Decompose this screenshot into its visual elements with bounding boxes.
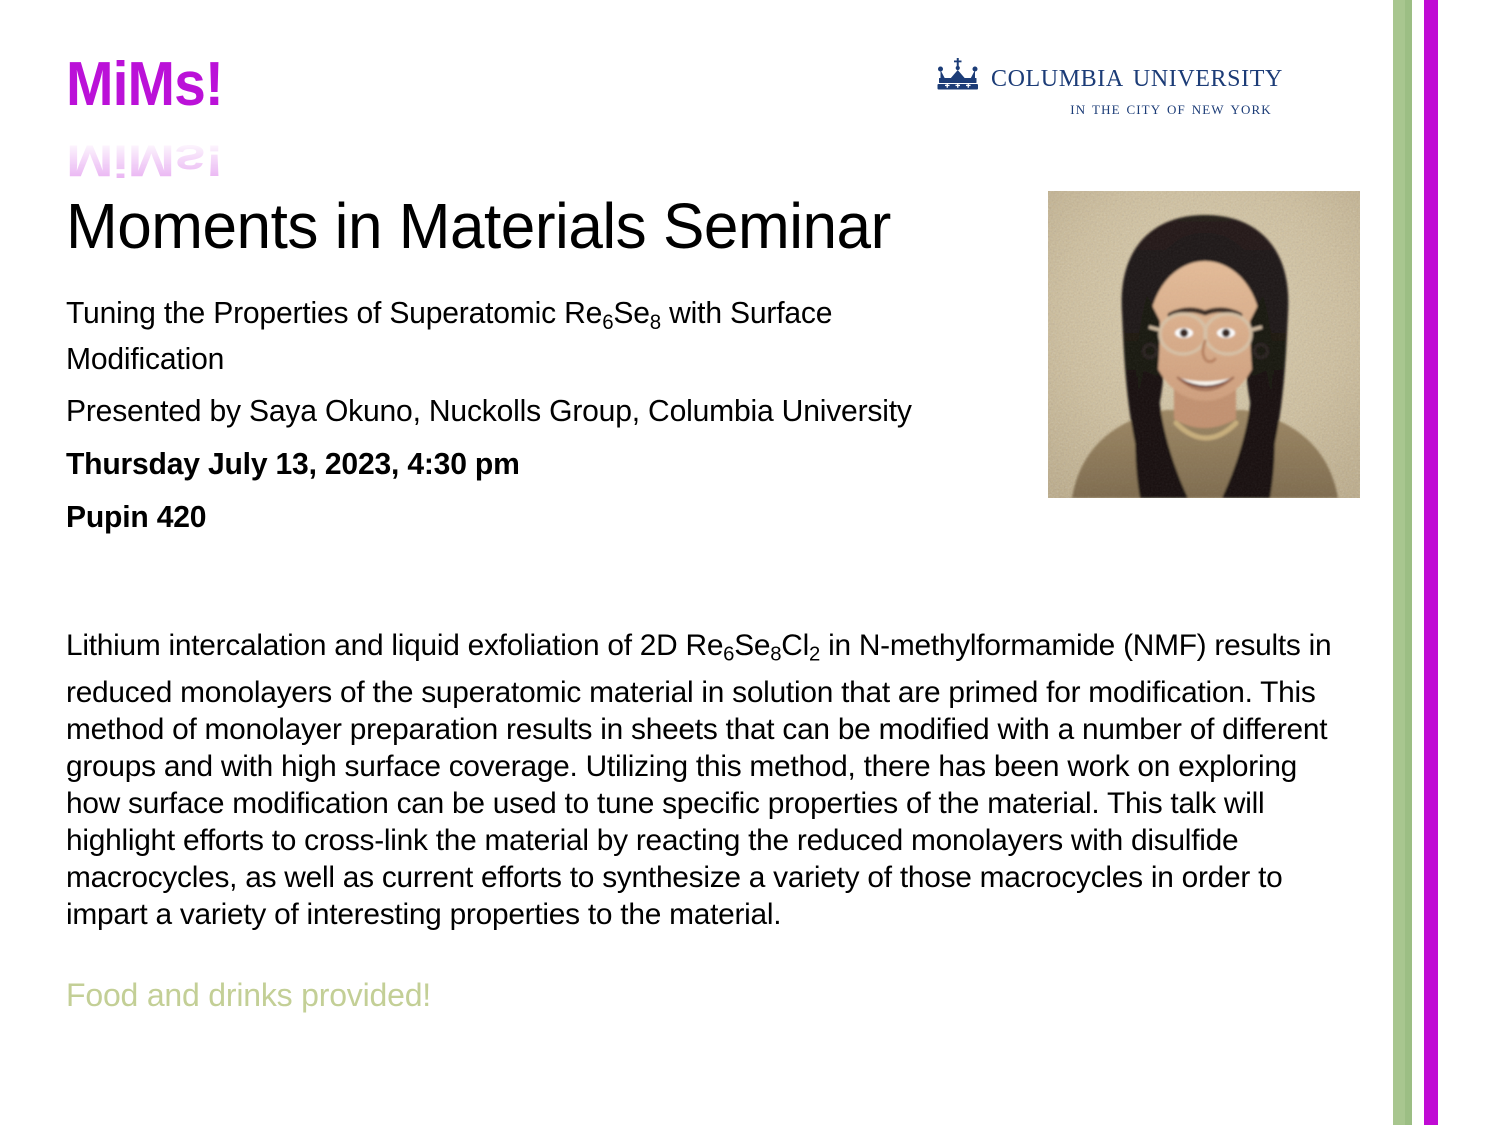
abstract-part-3: Cl <box>781 629 809 662</box>
abstract-subscript-1: 6 <box>723 644 734 666</box>
columbia-university-logo: Columbia University In the City of New Y… <box>935 58 1365 120</box>
talk-title-part-2: Se <box>613 295 649 330</box>
abstract-part-4: in N-methylformamide (NMF) results in re… <box>66 629 1331 931</box>
seminar-poster: MiMs! MiMs! <box>0 0 1500 1125</box>
columbia-university-name: Columbia University <box>991 58 1283 94</box>
abstract-text: Lithium intercalation and liquid exfolia… <box>66 627 1343 933</box>
food-note: Food and drinks provided! <box>66 976 1351 1014</box>
talk-title-part-1: Tuning the Properties of Superatomic Re <box>66 295 602 330</box>
abstract-subscript-2: 8 <box>770 644 781 666</box>
crown-icon <box>935 58 981 92</box>
mims-logo: MiMs! MiMs! <box>66 54 366 164</box>
talk-title: Tuning the Properties of Superatomic Re6… <box>66 295 944 377</box>
mims-logo-reflection: MiMs! <box>66 137 342 182</box>
abstract-part-1: Lithium intercalation and liquid exfolia… <box>66 629 723 662</box>
mims-logo-text: MiMs! <box>66 54 342 116</box>
talk-title-subscript-1: 6 <box>602 311 613 334</box>
talk-title-subscript-2: 8 <box>650 311 661 334</box>
abstract-part-2: Se <box>734 629 770 662</box>
page-title: Moments in Materials Seminar <box>66 190 1312 262</box>
seminar-datetime: Thursday July 13, 2023, 4:30 pm <box>66 446 944 482</box>
green-accent-bar <box>1393 0 1412 1125</box>
presenter-line: Presented by Saya Okuno, Nuckolls Group,… <box>66 393 944 429</box>
abstract-subscript-3: 2 <box>809 644 820 666</box>
magenta-accent-bar <box>1424 0 1438 1125</box>
seminar-location: Pupin 420 <box>66 499 944 535</box>
columbia-university-subtitle: In the City of New York <box>981 98 1361 120</box>
poster-content: Moments in Materials Seminar Tuning the … <box>66 190 1351 1046</box>
